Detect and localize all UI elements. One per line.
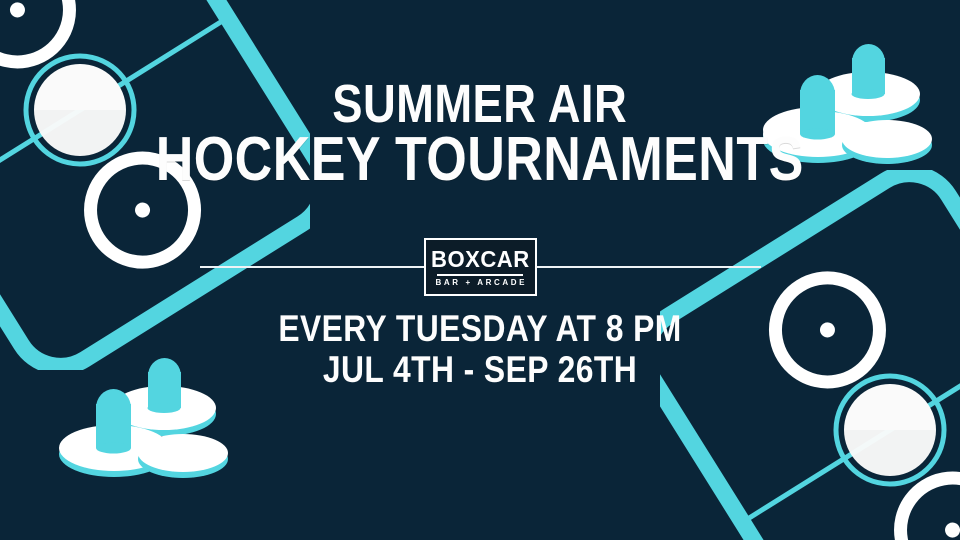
divider-rule-left: [200, 266, 424, 268]
event-schedule: EVERY TUESDAY AT 8 PM: [67, 308, 893, 349]
logo-inner-rule: [437, 274, 523, 276]
event-dates: JUL 4TH - SEP 26TH: [67, 349, 893, 390]
event-poster: SUMMER AIR HOCKEY TOURNAMENTS BOXCAR BAR…: [0, 0, 960, 540]
event-details: EVERY TUESDAY AT 8 PM JUL 4TH - SEP 26TH: [0, 308, 960, 391]
headline-line-2: HOCKEY TOURNAMENTS: [156, 130, 804, 190]
page-title: SUMMER AIR HOCKEY TOURNAMENTS: [156, 78, 804, 191]
logo-wordmark: BOXCAR: [431, 248, 530, 271]
brand-divider-row: BOXCAR BAR + ARCADE: [0, 238, 960, 296]
divider-rule-right: [537, 266, 761, 268]
poster-content: SUMMER AIR HOCKEY TOURNAMENTS BOXCAR BAR…: [0, 0, 960, 540]
headline-line-1: SUMMER AIR: [156, 78, 804, 130]
logo-tagline: BAR + ARCADE: [433, 279, 527, 287]
boxcar-logo: BOXCAR BAR + ARCADE: [424, 238, 537, 296]
